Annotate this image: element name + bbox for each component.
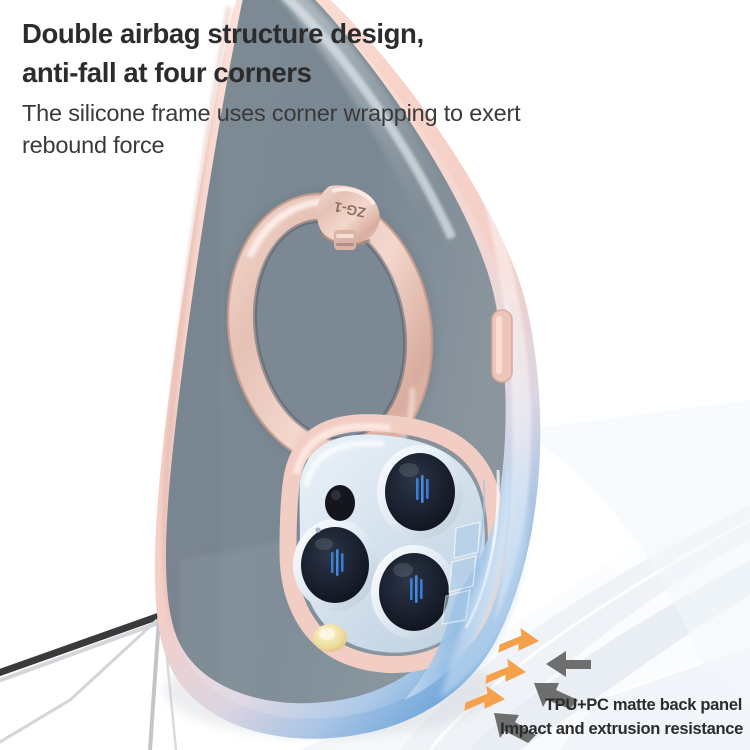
copy-block: Double airbag structure design, anti-fal…	[22, 14, 722, 162]
lens-flare-icon-3	[410, 575, 423, 603]
microphone-pinhole	[315, 527, 320, 532]
caption-line-1: TPU+PC matte back panel	[500, 694, 744, 718]
ring-hinge	[334, 230, 356, 250]
feature-caption: TPU+PC matte back panel Impact and extru…	[500, 694, 744, 742]
lens-flare-icon	[416, 475, 429, 503]
lidar-sensor-gloss	[331, 490, 341, 500]
stand-strut-2	[0, 620, 157, 745]
camera-flash-core	[319, 628, 335, 640]
subheadline-text: The silicone frame uses corner wrapping …	[22, 98, 722, 162]
camera-lens-left	[293, 519, 377, 611]
product-feature-image: Double airbag structure design, anti-fal…	[0, 0, 750, 750]
camera-lens-top	[377, 445, 463, 539]
stand-strut-1	[150, 618, 159, 750]
side-power-button[interactable]	[492, 310, 512, 382]
camera-lens-bottom	[371, 545, 457, 639]
caption-line-2: Impact and extrusion resistance	[500, 718, 744, 742]
headline-text: Double airbag structure design, anti-fal…	[22, 14, 722, 92]
lidar-sensor	[325, 485, 355, 521]
